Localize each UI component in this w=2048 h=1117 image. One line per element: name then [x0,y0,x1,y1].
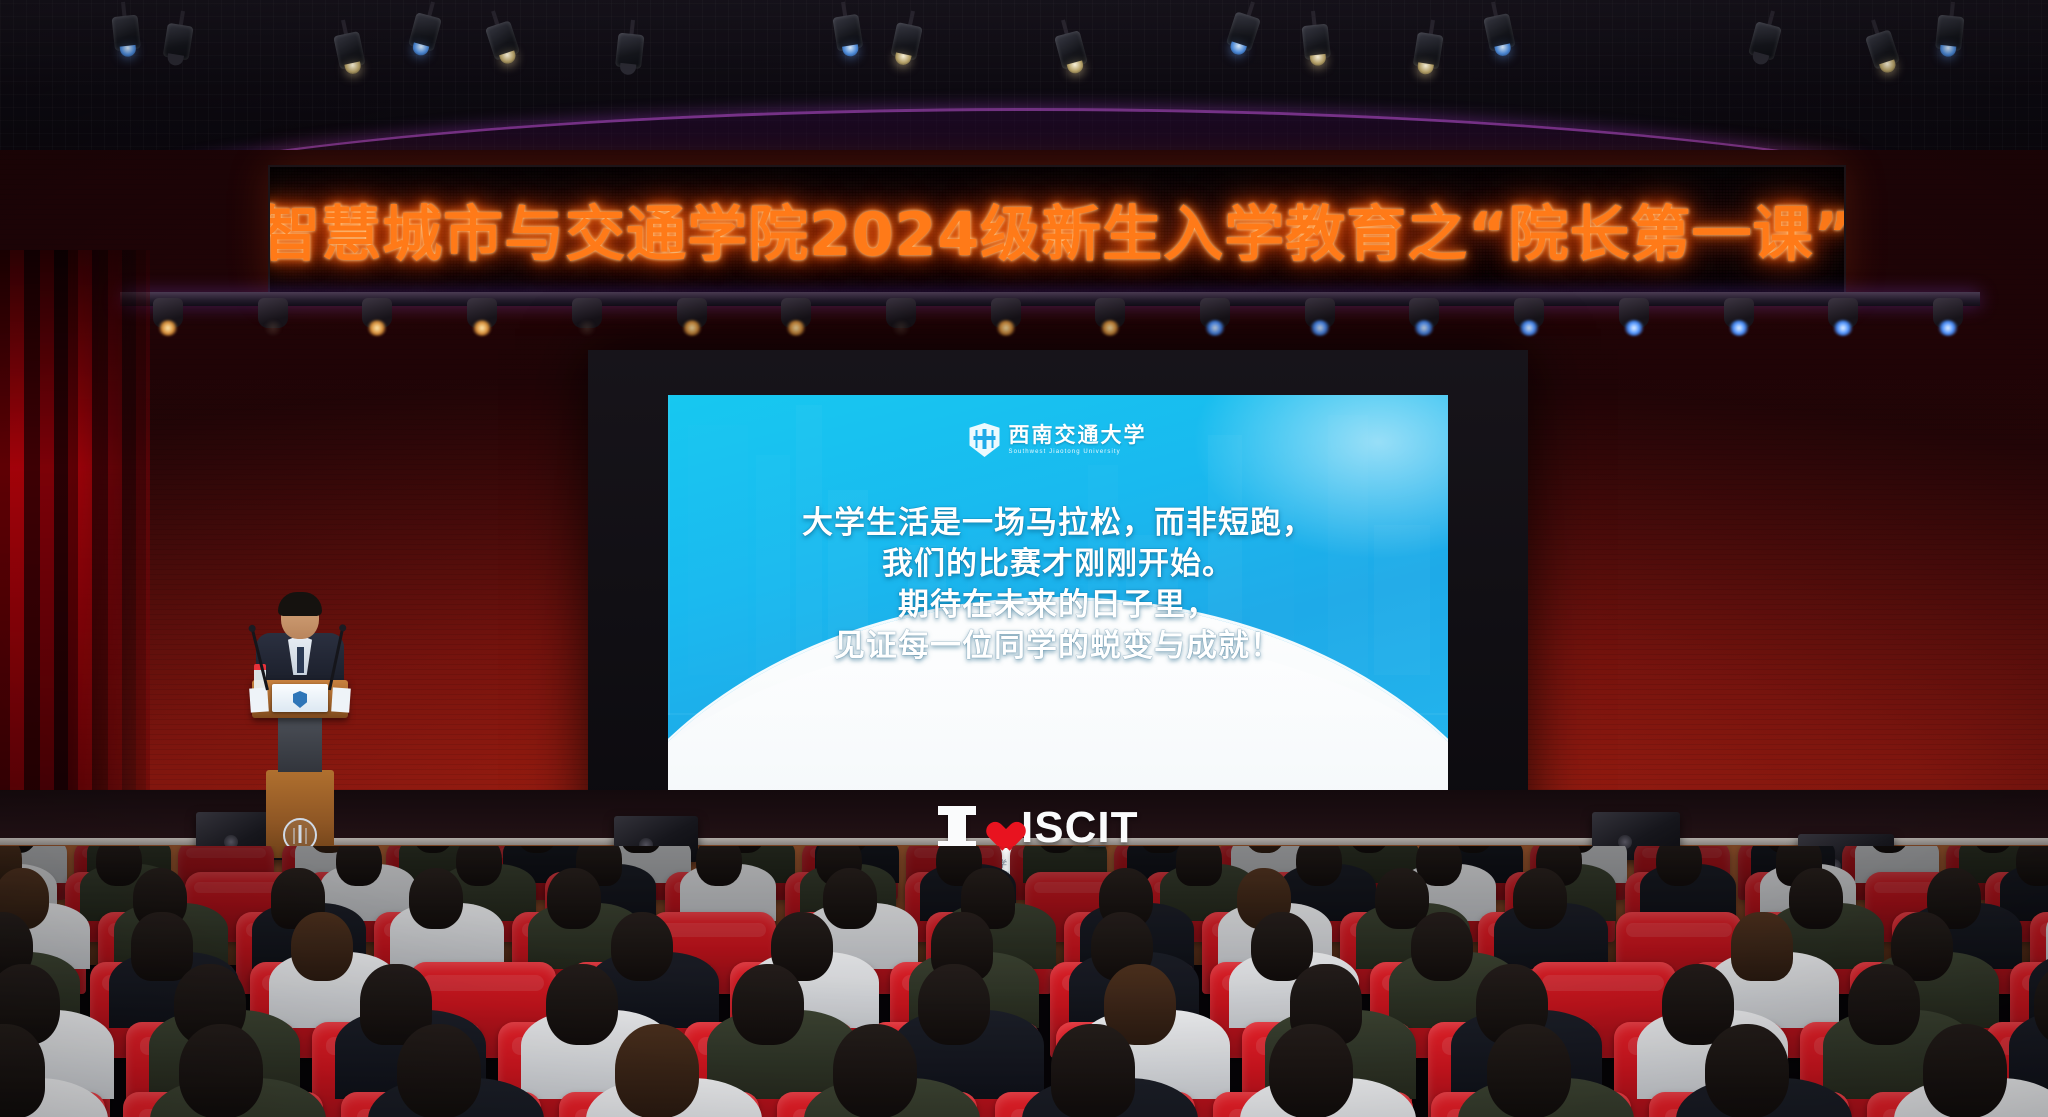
shield-bar [974,436,996,440]
audience-member-head [833,1024,917,1117]
audience-member-head [918,964,990,1045]
audience-member-head [336,846,382,886]
podium-nameplate [272,684,328,712]
slide-line-4: 见证每一位同学的蜕变与成就！ [668,626,1448,667]
audience-member-head [1731,912,1793,981]
truss-spotlight [1616,298,1652,342]
curtain-shading [0,250,150,870]
audience-member-head [1176,846,1222,886]
audience-member-head [131,912,193,981]
podium-desktop [252,680,348,718]
slide-line-1: 大学生活是一场马拉松，而非短跑， [668,503,1448,544]
audience-member-head [291,912,353,981]
podium-base [266,770,334,858]
paper-right [331,687,351,712]
audience-member-head [397,1024,481,1117]
audience-member-head [1513,868,1567,928]
presentation-slide: 西南交通大学 Southwest Jiaotong University 大学生… [668,395,1448,805]
truss-spotlight [359,298,395,342]
audience-member-head [409,868,463,928]
letter-i-prop [948,806,966,850]
truss-spotlight [1825,298,1861,342]
audience-member-head [179,1024,263,1117]
slide-text-block: 大学生活是一场马拉松，而非短跑， 我们的比赛才刚刚开始。 期待在未来的日子里， … [668,503,1448,667]
truss-spotlight [988,298,1024,342]
auditorium-scene: 智慧城市与交通学院2024级新生入学教育之“院长第一课” 西南交通大学 Sout… [0,0,2048,1117]
university-logo: 西南交通大学 Southwest Jiaotong University [970,423,1147,457]
lighting-truss [120,292,1980,306]
truss-spotlight [255,298,291,342]
truss-spotlight [150,298,186,342]
speaker-hair [278,592,322,616]
truss-spotlight [1721,298,1757,342]
slide-line-3: 期待在未来的日子里， [668,585,1448,626]
led-banner: 智慧城市与交通学院2024级新生入学教育之“院长第一课” [268,165,1846,294]
heart-icon [980,810,1014,840]
speaker-tie [297,647,304,673]
shield-icon [970,423,1000,457]
audience-member-head [1487,1024,1571,1117]
university-name-en: Southwest Jiaotong University [1009,449,1147,455]
audience-member-head [823,868,877,928]
audience-member-head [1705,1024,1789,1117]
audience-member-head [732,964,804,1045]
projection-screen: 西南交通大学 Southwest Jiaotong University 大学生… [668,395,1448,805]
audience-member-head [615,1024,699,1117]
truss-spotlight [1930,298,1966,342]
audience-member-head [1051,1024,1135,1117]
audience-member-head [1789,868,1843,928]
audience-member-head [1296,846,1342,886]
truss-spotlight [1092,298,1128,342]
audience-member-head [96,846,142,886]
iscit-word: ISCIT [1021,806,1138,850]
stage-curtain-left [0,250,150,870]
university-name-cn: 西南交通大学 [1009,425,1147,446]
truss-spotlight [569,298,605,342]
truss-spotlight [464,298,500,342]
audience-area [0,846,2048,1117]
truss-spotlight [1406,298,1442,342]
podium-column [278,716,322,772]
truss-spotlight [778,298,814,342]
truss-spotlight [1302,298,1338,342]
audience-member-head [1411,912,1473,981]
audience-member-head [1656,846,1702,886]
slide-line-2: 我们的比赛才刚刚开始。 [668,544,1448,585]
podium [252,680,348,858]
led-banner-text: 智慧城市与交通学院2024级新生入学教育之“院长第一课” [268,186,1846,273]
podium-nameplate-emblem [293,691,307,708]
paper-left [249,687,269,712]
audience-member-head [546,964,618,1045]
audience-member-head [1269,1024,1353,1117]
audience-member-head [456,846,502,886]
audience-member-head [1923,1024,2007,1117]
truss-spotlight [674,298,710,342]
audience-member-head [611,912,673,981]
truss-spotlight [1511,298,1547,342]
projection-screen-frame: 西南交通大学 Southwest Jiaotong University 大学生… [588,350,1528,860]
truss-spotlight [883,298,919,342]
audience-member-head [696,846,742,886]
i-love-iscit-prop: ISCIT [948,806,1138,850]
audience-member-head [547,868,601,928]
audience-member-head [1848,964,1920,1045]
truss-spotlight [1197,298,1233,342]
